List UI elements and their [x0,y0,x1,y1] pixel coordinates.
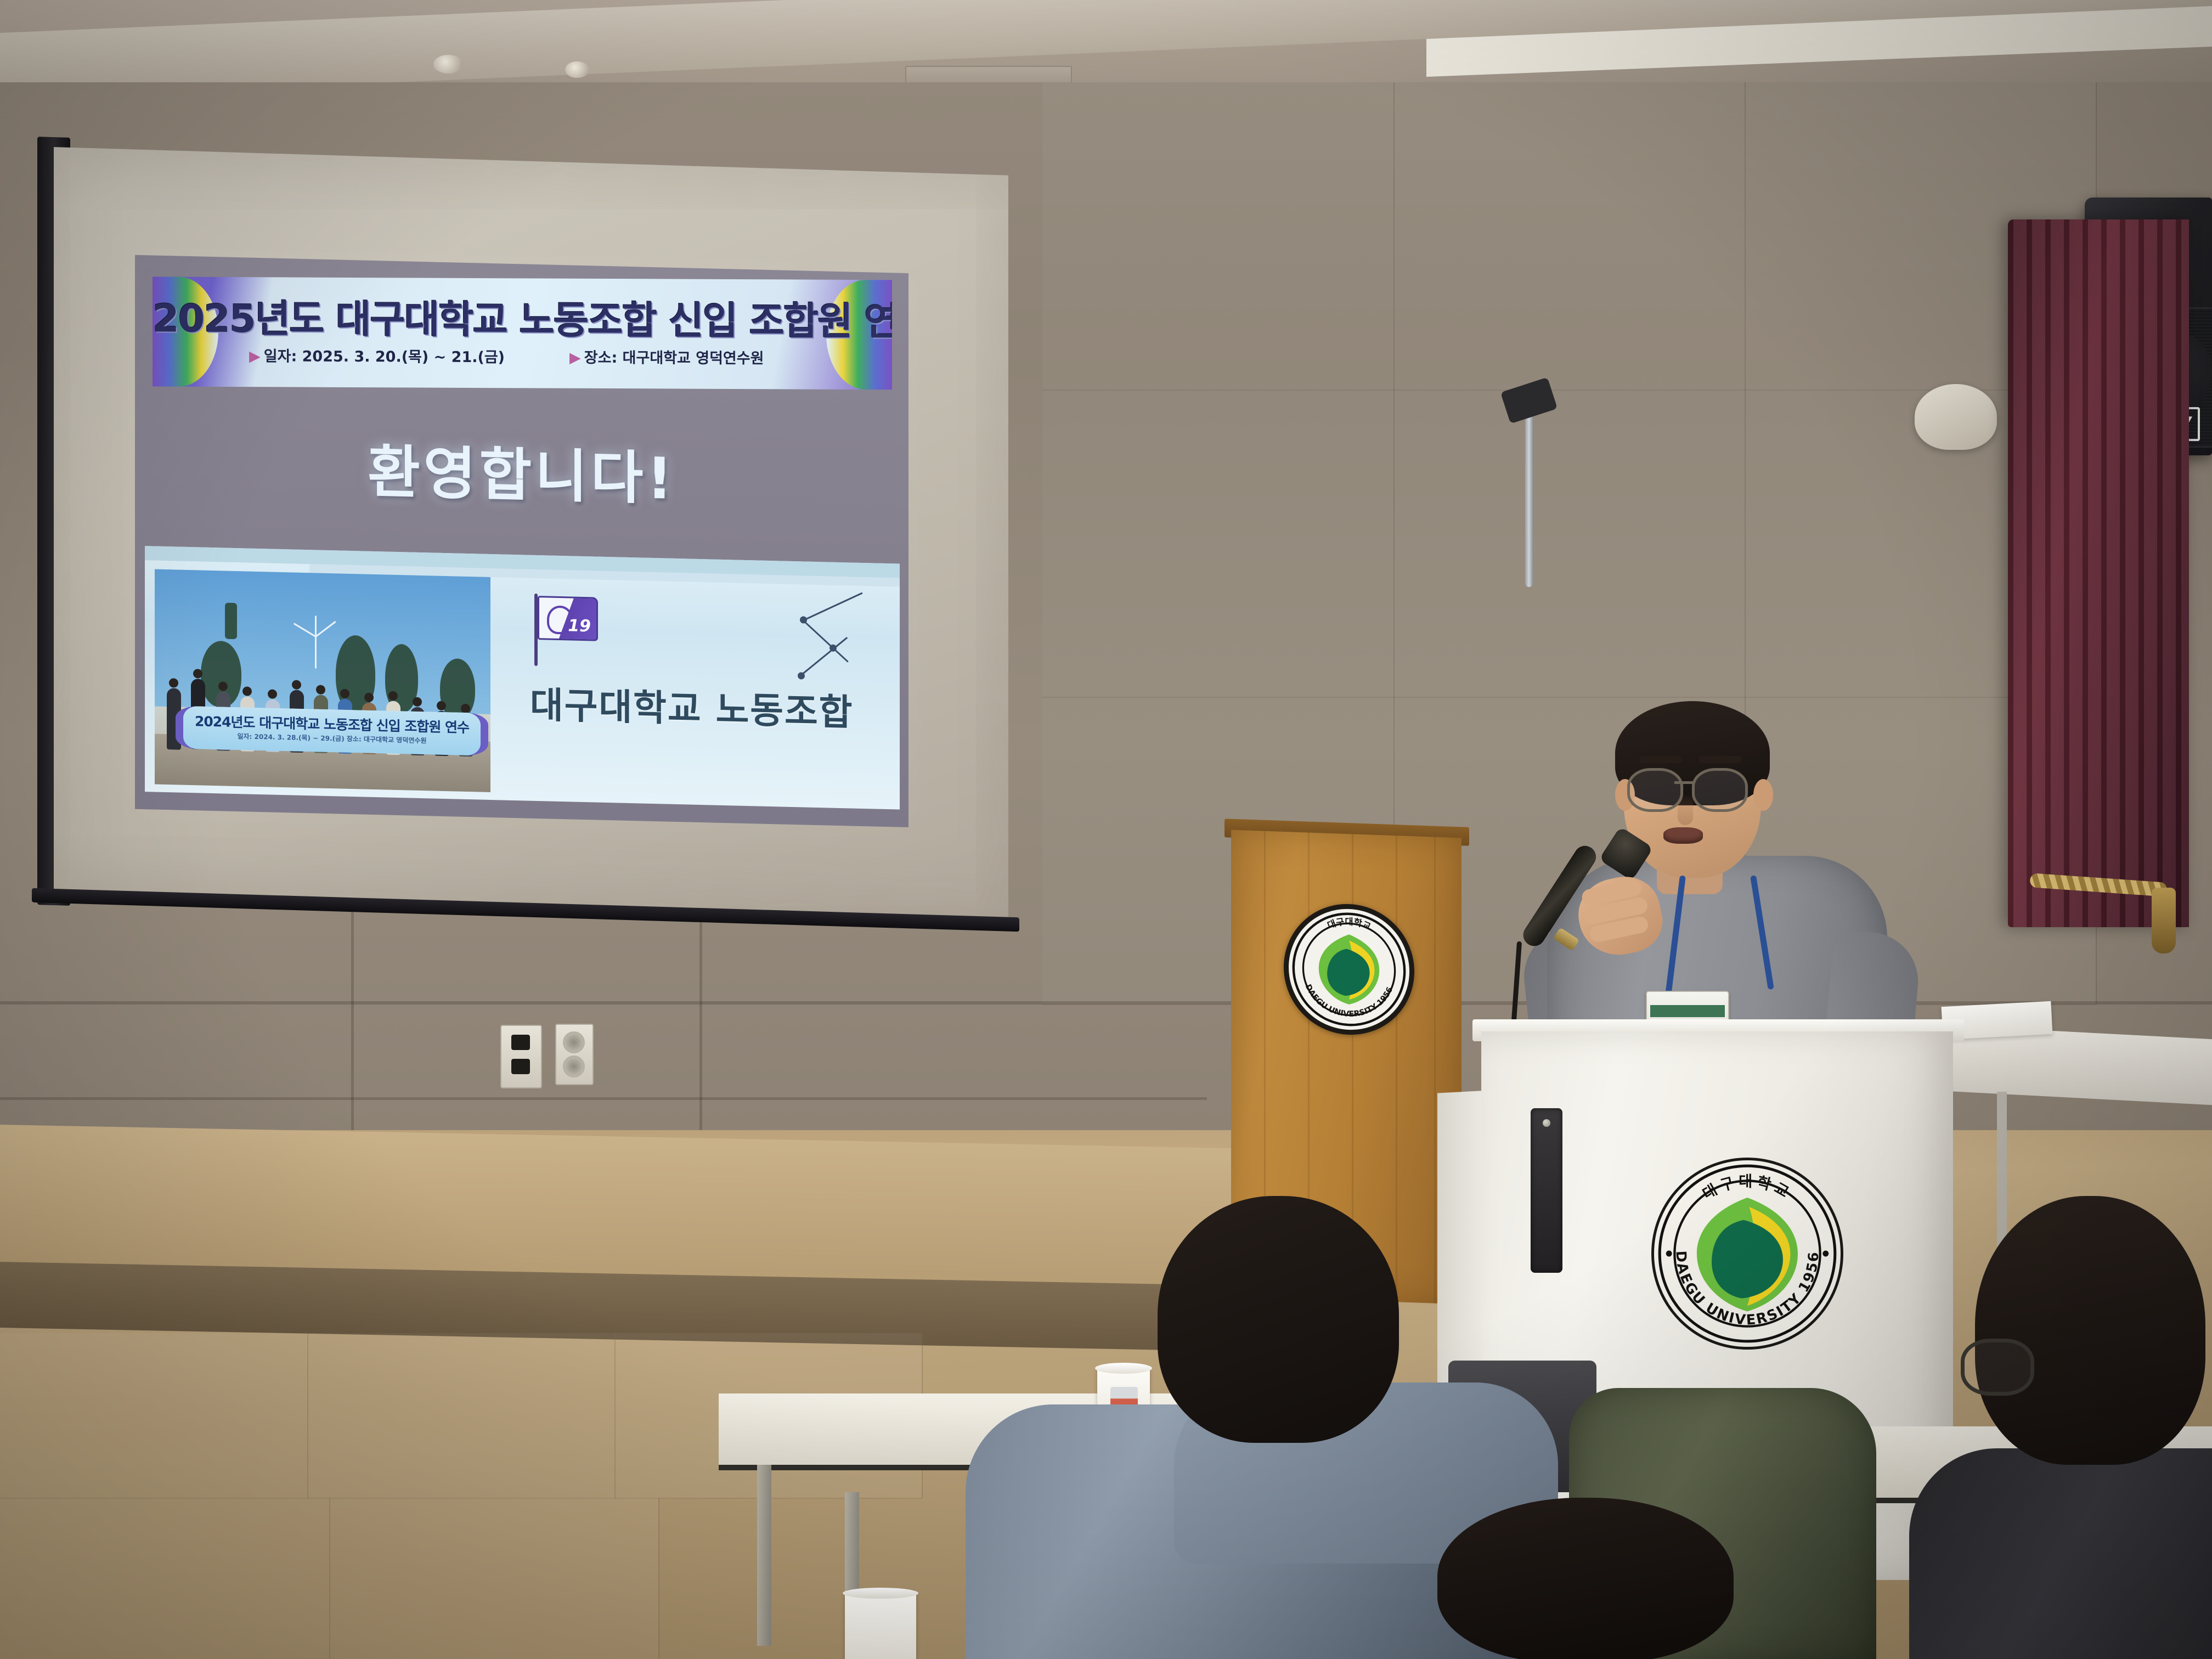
crowd-head [413,697,422,707]
constellation-line [803,592,862,621]
socket-bottom [563,1056,585,1077]
slide-date-line: ▶일자: 2025. 3. 20.(목) ~ 21.(금) [249,344,505,366]
crowd-head [340,689,349,698]
slide-place-line: ▶장소: 대구대학교 영덕연수원 [569,346,764,368]
speaker-eyebrow-left [1639,756,1682,763]
date-marker-icon: ▶ [249,348,261,365]
crowd-head [169,678,178,687]
floor-tile [329,1498,659,1659]
socket-top [563,1031,585,1053]
audience-member-3-head [1437,1498,1734,1659]
speaker-nose [1678,794,1693,825]
slide-lower-section: 2024년도 대구대학교 노동조합 신입 조합원 연수 일자: 2024. 3.… [145,546,900,809]
wall-panel [1042,82,1395,391]
lectern-screw [1543,1119,1550,1127]
cup-rim [1095,1363,1152,1374]
projection-screen: 2025년도 대구대학교 노동조합 신입 조합원 연수 ▶일자: 2025. 3… [54,147,1009,927]
place-marker-icon: ▶ [569,349,581,366]
crowd-head [193,669,202,678]
jack-port-bottom [511,1059,530,1074]
lectern-university-emblem: 대구대학교 DAEGU UNIVERSITY 1956 [1651,1158,1843,1350]
audience-member-1-head [1158,1196,1399,1443]
podium-university-emblem: 대구대학교 DAEGU UNIVERSITY 1956 [1284,902,1414,1037]
slide-place-label: 장소: 대구대학교 영덕연수원 [584,349,764,367]
wall-seam-horizontal [0,1097,1207,1100]
cup-rim [843,1588,918,1599]
wall-lamp [1915,384,1997,450]
speaker-ear-right [1753,779,1773,811]
table-leg [757,1465,771,1646]
crowd-head [242,686,252,696]
crowd-head [218,681,228,691]
crowd-head [316,685,325,694]
wall-seam-vertical [699,905,702,1136]
union-flag-icon: 19 [534,594,595,642]
slide-welcome-text: 환영합니다! [135,420,909,521]
paper-cup-front[interactable] [845,1591,916,1659]
audience-member-2-head [1975,1196,2205,1465]
floor-tile [0,1333,308,1499]
wall-panel [1393,390,1746,698]
slide-date-label: 일자: 2025. 3. 20.(목) ~ 21.(금) [264,348,505,366]
emblem-svg-large: 대구대학교 DAEGU UNIVERSITY 1956 [1654,1160,1841,1347]
flag-number-label: 19 [568,616,591,636]
crowd-head [388,691,398,701]
svg-text:대구대학교: 대구대학교 [1326,916,1372,932]
wall-panel [1042,390,1395,698]
speaker-eyebrow-right [1699,756,1741,763]
wall-power-outlet-plate[interactable] [555,1024,594,1085]
constellation-icon [795,606,867,690]
crowd-head [292,680,301,689]
group-photo: 2024년도 대구대학교 노동조합 신입 조합원 연수 일자: 2024. 3.… [155,569,490,792]
floor-tile [307,1333,616,1499]
wall-panel [1393,82,1746,391]
ceiling-light-1 [433,55,463,74]
wall-data-jack-plate[interactable] [500,1025,542,1088]
pine-tree [225,603,237,640]
glasses-lens-right [1692,768,1748,812]
badge-color-strip [1650,1005,1725,1017]
lecture-hall-photo: EV 2025년도 대구대학교 노동조합 신입 조합원 연수 ▶일자: 2025… [0,0,2212,1659]
glasses-bridge [1674,781,1694,784]
union-logo-block: 19 대구대학교 노동조합 [523,588,885,794]
glasses-lens-left [1627,768,1683,812]
crowd-head [268,689,277,698]
speaker-mouth [1663,827,1703,844]
curtain-tassel [2152,888,2176,953]
wind-turbine-mast [315,616,317,668]
wood-grain [1396,836,1397,1302]
slide-title-banner: 2025년도 대구대학교 노동조합 신입 조합원 연수 ▶일자: 2025. 3… [153,276,892,390]
crowd-head [461,704,470,713]
emblem-svg-small: 대구대학교 DAEGU UNIVERSITY 1956 [1289,907,1409,1032]
floor-tile [0,1498,330,1659]
audience-member-2-body [1909,1448,2212,1659]
crowd-head [437,701,446,710]
lectern-cable-slot [1531,1108,1562,1273]
photo-banner: 2024년도 대구대학교 노동조합 신입 조합원 연수 일자: 2024. 3.… [176,706,488,755]
flag-cloth: 19 [538,596,598,641]
wood-grain [1434,837,1436,1304]
wall-microphone-stand [1525,406,1533,587]
projected-slide: 2025년도 대구대학교 노동조합 신입 조합원 연수 ▶일자: 2025. 3… [135,255,909,827]
union-name-label: 대구대학교 노동조합 [530,676,853,736]
wall-seam-vertical [351,905,354,1136]
ceiling-light-2 [565,61,589,78]
audience-member-2-glasses [1961,1339,2034,1396]
maroon-curtain [2008,219,2189,927]
crowd-head [364,693,374,702]
slide-banner-title: 2025년도 대구대학교 노동조합 신입 조합원 연수 [153,287,892,346]
jack-port-top [511,1035,530,1050]
